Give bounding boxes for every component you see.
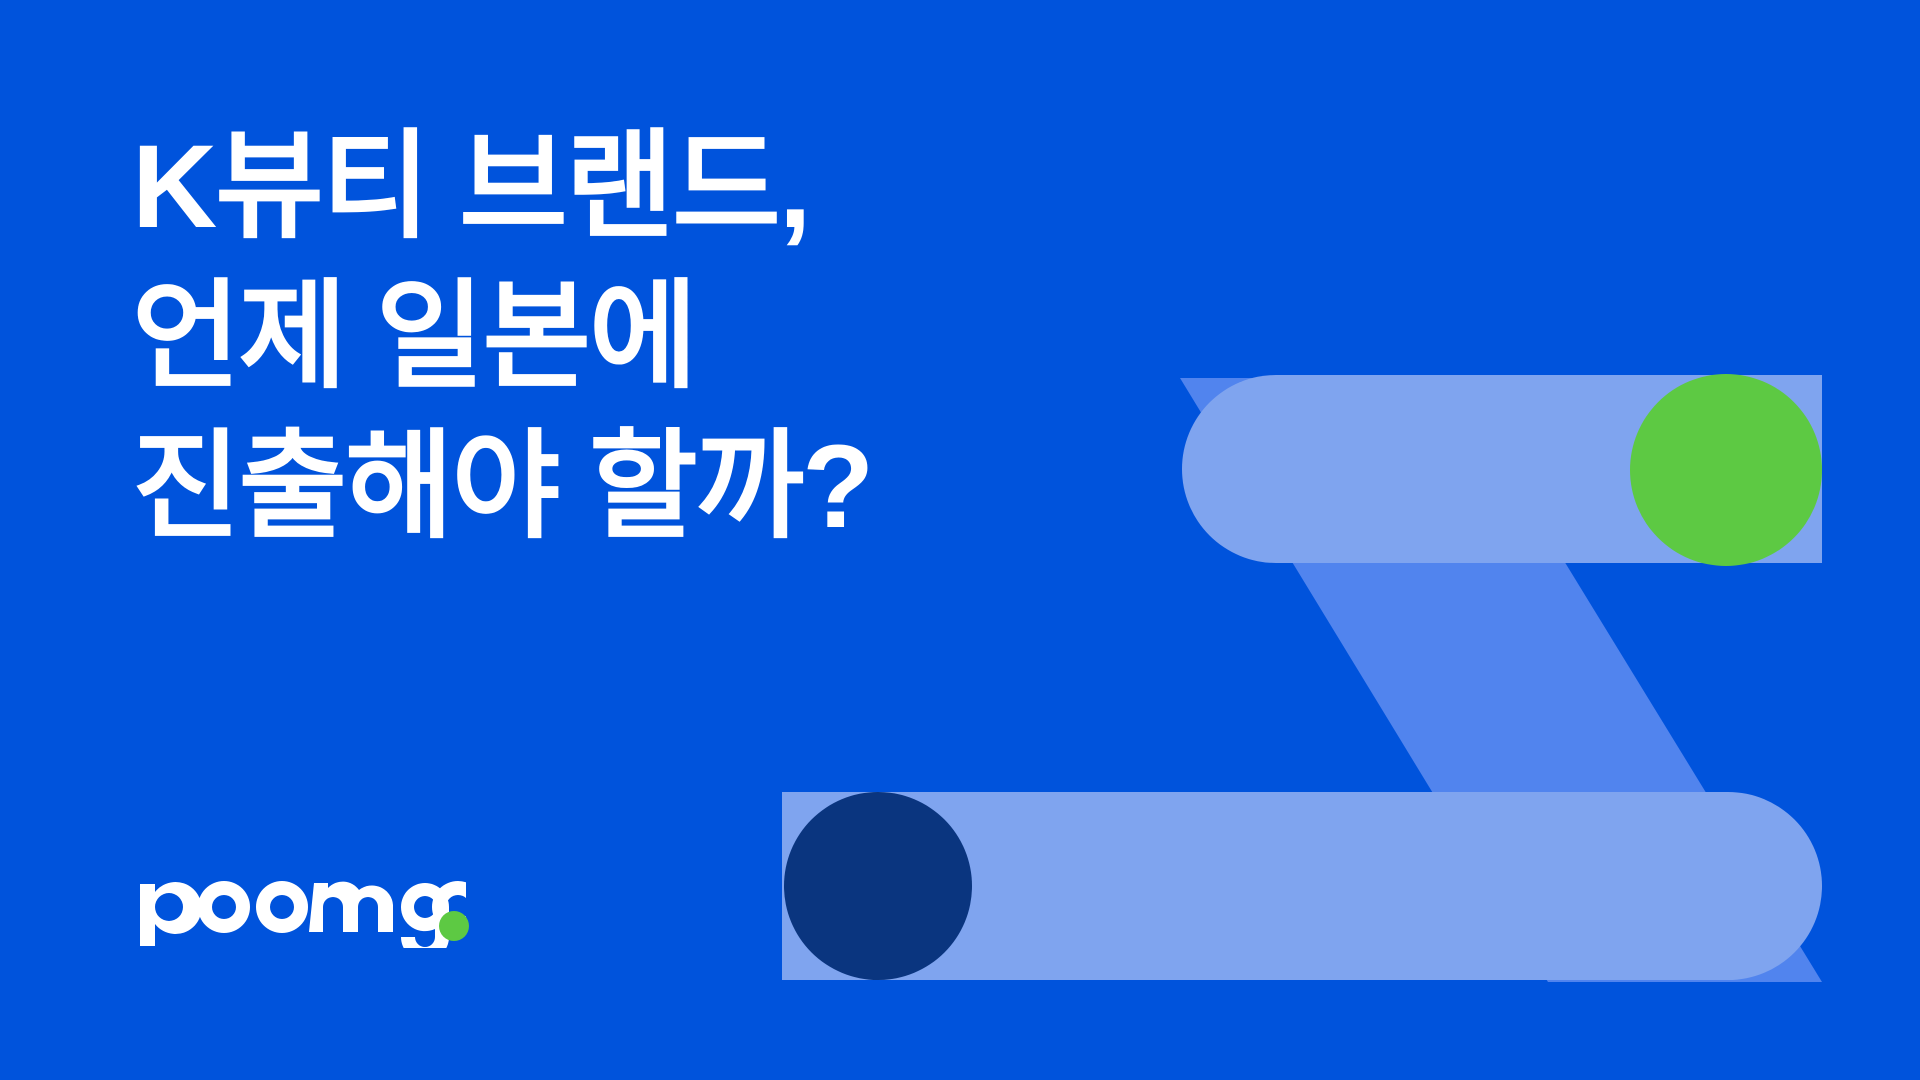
- banner-canvas: K뷰티 브랜드, 언제 일본에 진출해야 할까? poomgo: [0, 0, 1920, 1080]
- headline-line-3: 진출해야 할까?: [132, 412, 872, 562]
- poomgo-logo[interactable]: poomgo: [136, 862, 466, 948]
- headline-line-2: 언제 일본에: [132, 262, 872, 412]
- bottom-pill-band: [782, 792, 1822, 980]
- diagonal-connector-band: [878, 375, 1830, 980]
- logo-dot-icon: [438, 910, 470, 942]
- poomgo-wordmark-icon: [136, 862, 466, 948]
- green-accent-circle: [1630, 374, 1822, 566]
- page-title: K뷰티 브랜드, 언제 일본에 진출해야 할까?: [132, 112, 872, 562]
- diagonal-band: [1180, 378, 1822, 982]
- top-pill-band: [1182, 375, 1822, 563]
- navy-accent-circle: [784, 792, 972, 980]
- headline-line-1: K뷰티 브랜드,: [132, 112, 872, 262]
